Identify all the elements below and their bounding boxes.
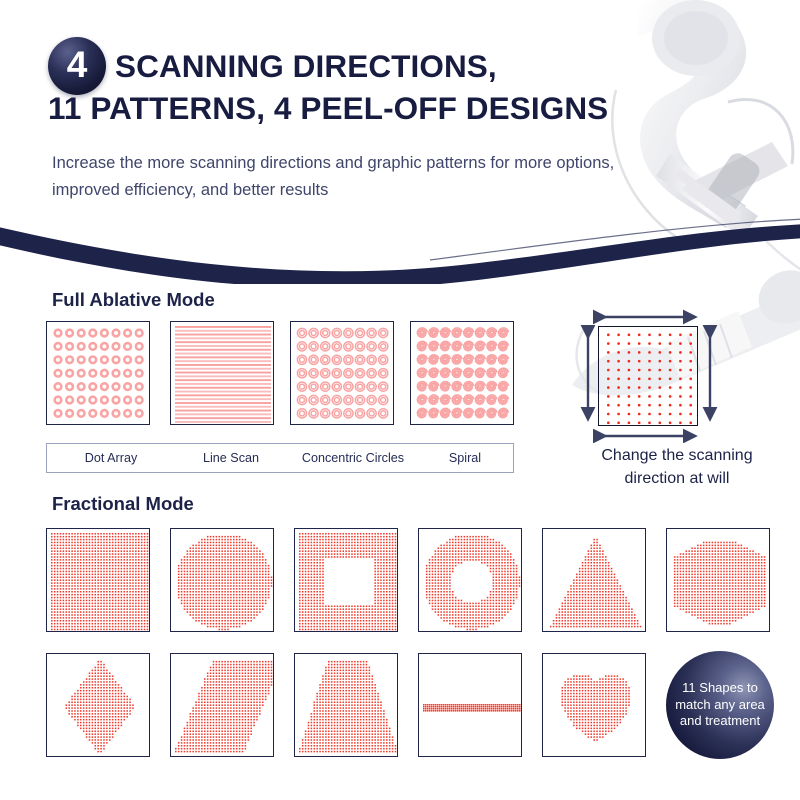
step-number-badge: 4 (48, 37, 106, 95)
shape-box-circle[interactable] (170, 528, 274, 632)
pattern-box-spiral[interactable] (410, 321, 514, 425)
scan-dot-grid-icon (599, 327, 699, 427)
shape-box-hexagon[interactable] (666, 528, 770, 632)
shape-box-line[interactable] (418, 653, 522, 757)
spiral-pattern-icon (411, 322, 514, 425)
shapes-badge-text: 11 Shapes to match any area and treatmen… (666, 680, 774, 731)
circle-shape-icon (171, 529, 274, 632)
title-line-1: SCANNING DIRECTIONS, (115, 48, 497, 84)
triangle-shape-icon (543, 529, 646, 632)
shape-box-square-ring[interactable] (294, 528, 398, 632)
square-shape-icon (47, 529, 150, 632)
donut-shape-icon (419, 529, 522, 632)
shape-box-triangle[interactable] (542, 528, 646, 632)
shapes-count-badge: 11 Shapes to match any area and treatmen… (666, 651, 774, 759)
section-heading-full-ablative: Full Ablative Mode (52, 289, 215, 311)
line-scan-pattern-icon (171, 322, 274, 425)
pattern-label-concentric-circles: Concentric Circles (287, 451, 419, 465)
scan-direction-caption: Change the scanning direction at will (562, 445, 792, 490)
scan-direction-panel: Change the scanning direction at will (562, 308, 792, 483)
section-heading-fractional: Fractional Mode (52, 493, 194, 515)
scan-direction-dot-grid-box[interactable] (598, 326, 698, 426)
scan-caption-line-2: direction at will (625, 470, 730, 487)
shape-box-heart[interactable] (542, 653, 646, 757)
shape-box-diamond[interactable] (46, 653, 150, 757)
shape-box-trapezoid[interactable] (294, 653, 398, 757)
pattern-box-line-scan[interactable] (170, 321, 274, 425)
shape-box-square[interactable] (46, 528, 150, 632)
shape-box-donut[interactable] (418, 528, 522, 632)
pattern-box-concentric-circles[interactable] (290, 321, 394, 425)
wave-divider (0, 188, 800, 284)
pattern-label-line-scan: Line Scan (175, 451, 287, 465)
hexagon-shape-icon (667, 529, 770, 632)
diamond-shape-icon (47, 654, 150, 757)
heart-shape-icon (543, 654, 646, 757)
step-number: 4 (67, 46, 88, 83)
pattern-label-strip: Dot Array Line Scan Concentric Circles S… (46, 443, 514, 473)
line-shape-icon (419, 654, 522, 757)
pattern-label-dot-array: Dot Array (47, 451, 175, 465)
trapezoid-shape-icon (295, 654, 398, 757)
page-title: SCANNING DIRECTIONS, 11 PATTERNS, 4 PEEL… (115, 46, 775, 86)
shape-box-parallelogram[interactable] (170, 653, 274, 757)
square-ring-shape-icon (295, 529, 398, 632)
scan-caption-line-1: Change the scanning (601, 447, 752, 464)
parallelogram-shape-icon (171, 654, 274, 757)
dot-array-pattern-icon (47, 322, 150, 425)
pattern-label-spiral: Spiral (419, 451, 511, 465)
title-line-2: 11 PATTERNS, 4 PEEL-OFF DESIGNS (48, 88, 608, 128)
concentric-circles-pattern-icon (291, 322, 394, 425)
pattern-box-dot-array[interactable] (46, 321, 150, 425)
infographic-page: 4 SCANNING DIRECTIONS, 11 PATTERNS, 4 PE… (0, 0, 800, 800)
